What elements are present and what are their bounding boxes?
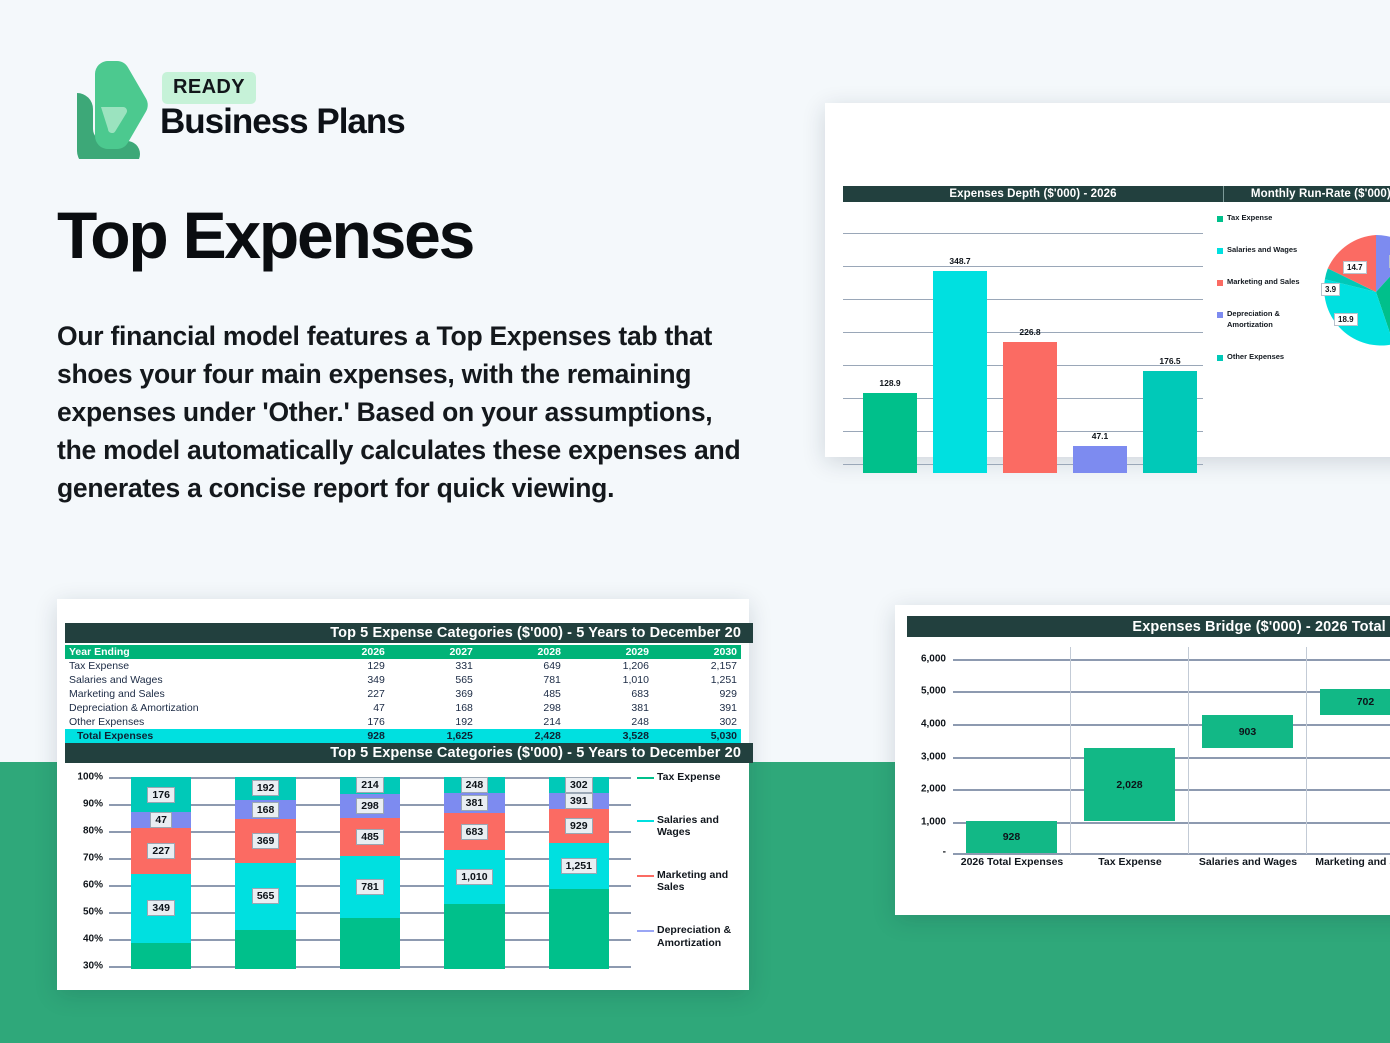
y-axis: 6,000 5,000 4,000 3,000 2,000 1,000 - [907, 647, 949, 854]
cell: 565 [389, 673, 477, 687]
cell: 176 [308, 715, 389, 729]
total-cell: 3,528 [565, 729, 653, 743]
cell: 2,157 [653, 659, 741, 673]
total-cell: 1,625 [389, 729, 477, 743]
cell: 298 [477, 701, 565, 715]
seg-label: 565 [252, 888, 280, 904]
cell: 302 [653, 715, 741, 729]
bar-value-label: 903 [1239, 726, 1257, 738]
seg-label: 298 [356, 798, 384, 814]
bar-value-label: 176.5 [1143, 356, 1197, 366]
table-total-row: Total Expenses 928 1,625 2,428 3,528 5,0… [65, 729, 741, 743]
seg-label: 391 [565, 793, 593, 809]
cell: 369 [389, 687, 477, 701]
page-title: Top Expenses [57, 202, 473, 268]
waterfall-col-tax-expense: 2,028 [1071, 647, 1189, 854]
cell: 1,206 [565, 659, 653, 673]
seg-label: 1,010 [456, 869, 492, 885]
stack-column-2027: 192 168 369 565 [213, 769, 317, 969]
cell: 129 [308, 659, 389, 673]
panel-a-legend: Tax Expense Salaries and Wages Marketing… [1217, 213, 1322, 384]
legend-item: Depreciation & Amortization [1217, 309, 1322, 329]
stacked-bar-chart: 100% 90% 80% 70% 60% 50% 40% 30% 176 47 … [65, 769, 741, 984]
y-tick: 3,000 [921, 752, 946, 763]
y-tick: 100% [77, 772, 103, 783]
table-header-row: Year Ending 2026 2027 2028 2029 2030 [65, 645, 741, 659]
cell: 781 [477, 673, 565, 687]
panel-c-title-bar: Expenses Bridge ($'000) - 2026 Total Exp… [907, 616, 1390, 637]
total-label: Total Expenses [65, 729, 308, 743]
seg-label: 485 [356, 829, 384, 845]
row-label: Salaries and Wages [65, 673, 308, 687]
y-tick: 90% [83, 799, 103, 810]
x-tick: 2026 Total Expenses [953, 856, 1071, 868]
table-title-bar: Top 5 Expense Categories ($'000) - 5 Yea… [65, 623, 753, 643]
monthly-runrate-pie-chart: 10.7 14.7 3.9 18.9 [1317, 233, 1390, 351]
legend-marker-icon [637, 875, 654, 877]
legend-label: Other Expenses [1227, 352, 1284, 362]
legend-item: Salaries and Wages [637, 814, 741, 839]
y-axis: 100% 90% 80% 70% 60% 50% 40% 30% [65, 769, 105, 969]
cell: 227 [308, 687, 389, 701]
legend-label: Marketing and Sales [1227, 277, 1300, 287]
expenses-depth-title: Expenses Depth ($'000) - 2026 [843, 186, 1223, 202]
y-tick: 5,000 [921, 686, 946, 697]
panel-a-title-bar: Expenses Depth ($'000) - 2026 Monthly Ru… [843, 186, 1390, 202]
seg-label: 168 [252, 802, 280, 818]
col-2030: 2030 [653, 645, 741, 659]
ready-badge: READY [162, 72, 256, 104]
table-row: Salaries and Wages 349 565 781 1,010 1,2… [65, 673, 741, 687]
legend-swatch-icon [1217, 248, 1223, 254]
bar-value-label: 47.1 [1073, 431, 1127, 441]
legend-item: Tax Expense [1217, 213, 1322, 223]
col-year-ending: Year Ending [65, 645, 308, 659]
seg-label: 683 [461, 824, 489, 840]
cell: 248 [565, 715, 653, 729]
expenses-depth-panel: Expenses Depth ($'000) - 2026 Monthly Ru… [825, 103, 1390, 457]
y-tick: 40% [83, 934, 103, 945]
table-row: Depreciation & Amortization 47 168 298 3… [65, 701, 741, 715]
seg-label: 369 [252, 833, 280, 849]
bar-marketing-and-sales: 226.8 [1003, 342, 1057, 473]
bar-value-label: 128.9 [863, 378, 917, 388]
stacked-chart-title-bar: Top 5 Expense Categories ($'000) - 5 Yea… [65, 743, 753, 763]
seg-label: 302 [565, 777, 593, 793]
seg-label: 176 [147, 787, 175, 803]
total-cell: 928 [308, 729, 389, 743]
seg-label: 248 [461, 777, 489, 793]
cell: 683 [565, 687, 653, 701]
y-tick: - [943, 847, 946, 858]
row-label: Depreciation & Amortization [65, 701, 308, 715]
waterfall-columns: 928 2,028 903 702 [953, 647, 1390, 854]
table-row: Marketing and Sales 227 369 485 683 929 [65, 687, 741, 701]
bar-value-label: 702 [1357, 696, 1375, 708]
cell: 214 [477, 715, 565, 729]
stack-columns: 176 47 227 349 192 168 369 565 214 [109, 769, 631, 969]
waterfall-col-2026-total: 928 [953, 647, 1071, 854]
col-2027: 2027 [389, 645, 477, 659]
x-tick: Tax Expense [1071, 856, 1189, 868]
y-tick: 30% [83, 961, 103, 972]
y-tick: 4,000 [921, 719, 946, 730]
x-tick: Marketing and Sales [1307, 856, 1390, 868]
stack-column-2026: 176 47 227 349 [109, 769, 213, 969]
legend-item: Tax Expense [637, 771, 741, 784]
legend-item: Marketing and Sales [1217, 277, 1322, 287]
legend-label: Tax Expense [1227, 213, 1272, 223]
x-axis-labels: 2026 Total Expenses Tax Expense Salaries… [953, 856, 1390, 868]
y-tick: 60% [83, 880, 103, 891]
cell: 349 [308, 673, 389, 687]
seg-label: 929 [565, 818, 593, 834]
seg-label: 781 [356, 879, 384, 895]
legend-item: Other Expenses [1217, 352, 1322, 362]
bar-value-label: 348.7 [933, 256, 987, 266]
bar-other-expenses: 176.5 [1143, 371, 1197, 473]
seg-label: 47 [150, 812, 172, 828]
expenses-bridge-panel: Expenses Bridge ($'000) - 2026 Total Exp… [895, 605, 1390, 915]
legend-marker-icon [637, 777, 654, 779]
legend-marker-icon [637, 820, 654, 822]
bar-value-label: 2,028 [1116, 779, 1142, 791]
col-2028: 2028 [477, 645, 565, 659]
expenses-depth-bar-chart: 128.9 348.7 226.8 47.1 176.5 [843, 211, 1203, 473]
x-tick: Salaries and Wages [1189, 856, 1307, 868]
col-2029: 2029 [565, 645, 653, 659]
plot-area: 928 2,028 903 702 [953, 647, 1390, 854]
y-tick: 1,000 [921, 817, 946, 828]
plot-area: 176 47 227 349 192 168 369 565 214 [109, 769, 631, 969]
cell: 381 [565, 701, 653, 715]
legend-label: Salaries and Wages [1227, 245, 1297, 255]
stacked-chart-legend: Tax Expense Salaries and Wages Marketing… [637, 771, 741, 979]
cell: 649 [477, 659, 565, 673]
seg-label: 227 [147, 843, 175, 859]
waterfall-col-marketing-and-sales: 702 [1307, 647, 1390, 854]
col-2026: 2026 [308, 645, 389, 659]
total-cell: 5,030 [653, 729, 741, 743]
pie-label-marketing: 14.7 [1343, 261, 1367, 274]
legend-label: Salaries and Wages [657, 814, 741, 839]
y-tick: 6,000 [921, 654, 946, 665]
cell: 1,251 [653, 673, 741, 687]
cell: 391 [653, 701, 741, 715]
stack-column-2030: 302 391 929 1,251 [527, 769, 631, 969]
seg-label: 381 [461, 795, 489, 811]
cell: 485 [477, 687, 565, 701]
waterfall-col-salaries-and-wages: 903 [1189, 647, 1307, 854]
seg-label: 1,251 [561, 858, 597, 874]
bar-depreciation-amortization: 47.1 [1073, 446, 1127, 473]
seg-label: 192 [252, 780, 280, 796]
legend-label: Marketing and Sales [657, 869, 741, 894]
cell: 47 [308, 701, 389, 715]
row-label: Tax Expense [65, 659, 308, 673]
bar-value-label: 928 [1003, 831, 1021, 843]
row-label: Marketing and Sales [65, 687, 308, 701]
legend-swatch-icon [1217, 355, 1223, 361]
legend-item: Depreciation & Amortization [637, 924, 741, 949]
brand-wordmark: Business Plans [160, 102, 405, 142]
legend-item: Marketing and Sales [637, 869, 741, 894]
table-row: Other Expenses 176 192 214 248 302 [65, 715, 741, 729]
bar-group: 128.9 348.7 226.8 47.1 176.5 [863, 253, 1197, 473]
stack-column-2028: 214 298 485 781 [318, 769, 422, 969]
y-tick: 80% [83, 826, 103, 837]
row-label: Other Expenses [65, 715, 308, 729]
brand-logo-block: READY Business Plans [57, 55, 477, 160]
bar-value-label: 226.8 [1003, 327, 1057, 337]
top5-expense-categories-panel: Top 5 Expense Categories ($'000) - 5 Yea… [57, 599, 749, 990]
bar-tax-expense: 128.9 [863, 393, 917, 473]
legend-swatch-icon [1217, 312, 1223, 318]
stack-column-2029: 248 381 683 1,010 [422, 769, 526, 969]
page-description: Our financial model features a Top Expen… [57, 318, 757, 507]
cell: 1,010 [565, 673, 653, 687]
legend-swatch-icon [1217, 280, 1223, 286]
cell: 331 [389, 659, 477, 673]
expense-categories-table: Year Ending 2026 2027 2028 2029 2030 Tax… [65, 645, 741, 743]
cell: 192 [389, 715, 477, 729]
bar-salaries-and-wages: 348.7 [933, 271, 987, 473]
monthly-runrate-title: Monthly Run-Rate ($'000) - [1224, 186, 1390, 202]
legend-item: Salaries and Wages [1217, 245, 1322, 255]
table-row: Tax Expense 129 331 649 1,206 2,157 [65, 659, 741, 673]
legend-label: Depreciation & Amortization [657, 924, 741, 949]
expenses-bridge-waterfall-chart: 6,000 5,000 4,000 3,000 2,000 1,000 - 92… [907, 647, 1390, 897]
legend-label: Tax Expense [657, 771, 720, 784]
seg-label: 214 [356, 777, 384, 793]
y-tick: 70% [83, 853, 103, 864]
play-triangle-logo-icon [57, 55, 149, 159]
cell: 168 [389, 701, 477, 715]
cell: 929 [653, 687, 741, 701]
pie-label-other: 3.9 [1321, 283, 1340, 296]
legend-swatch-icon [1217, 216, 1223, 222]
legend-label: Depreciation & Amortization [1227, 309, 1322, 329]
y-tick: 2,000 [921, 784, 946, 795]
y-tick: 50% [83, 907, 103, 918]
pie-label-salaries: 18.9 [1334, 313, 1358, 326]
total-cell: 2,428 [477, 729, 565, 743]
legend-marker-icon [637, 930, 654, 932]
seg-label: 349 [147, 900, 175, 916]
